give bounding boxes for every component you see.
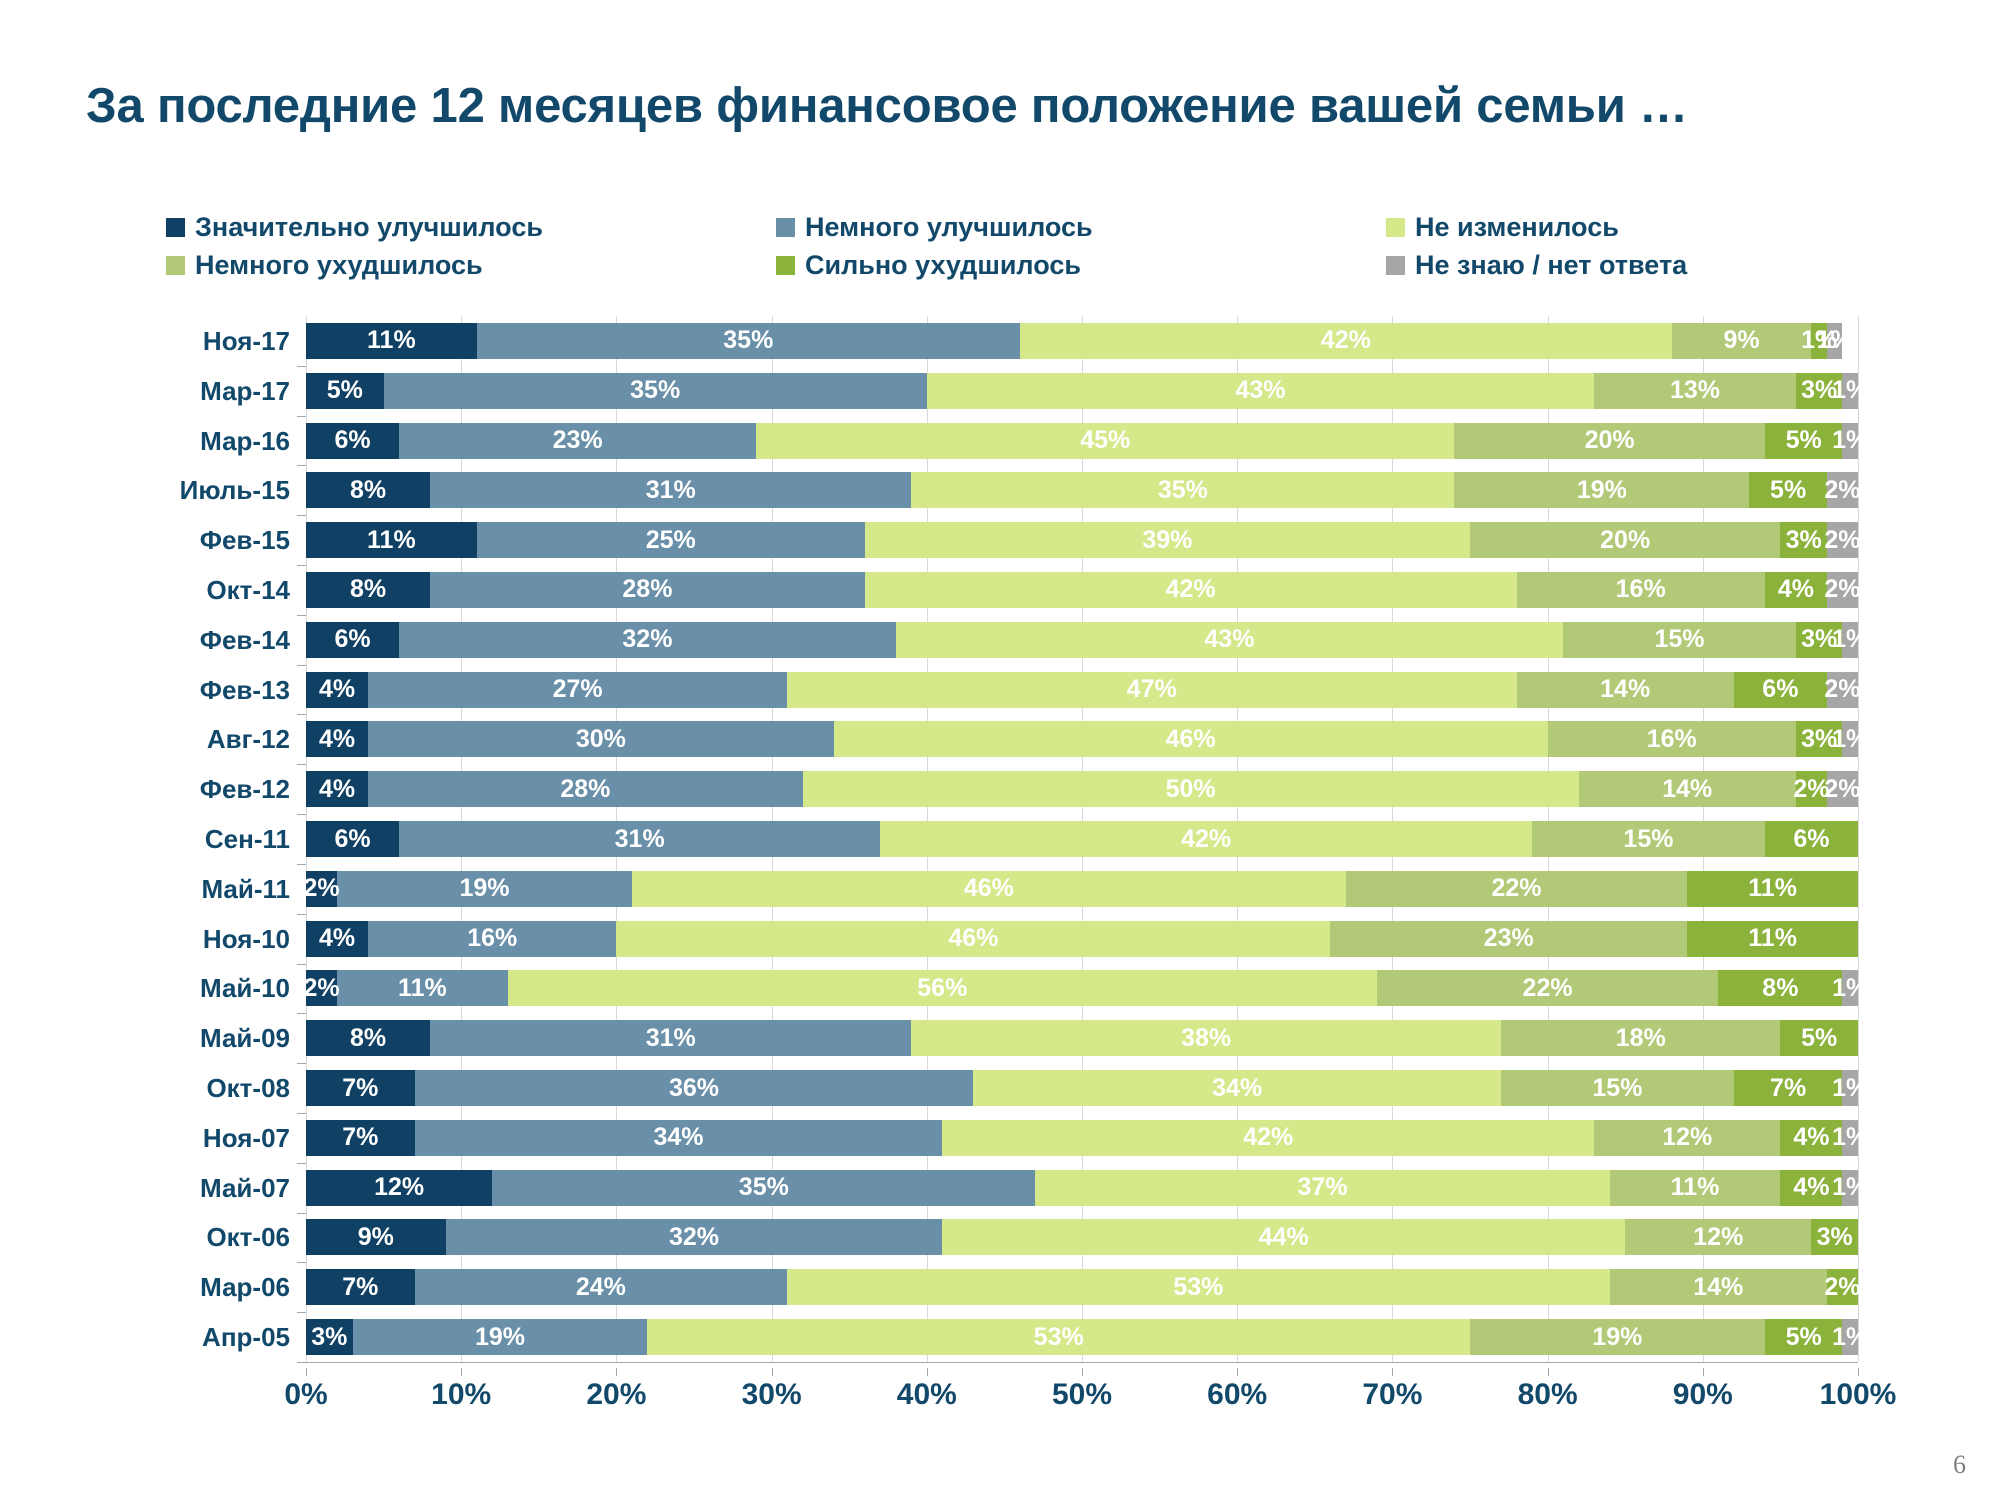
bar-segment[interactable]: 11% bbox=[1687, 921, 1858, 957]
bar-segment-value: 28% bbox=[560, 777, 610, 802]
bar-segment[interactable]: 43% bbox=[896, 622, 1563, 658]
bar-segment[interactable]: 22% bbox=[1377, 970, 1718, 1006]
bar-segment[interactable]: 35% bbox=[911, 472, 1454, 508]
category-tick bbox=[297, 515, 306, 516]
bar-segment[interactable]: 45% bbox=[756, 423, 1454, 459]
bar-segment[interactable]: 2% bbox=[1827, 472, 1858, 508]
bar-segment[interactable]: 4% bbox=[1765, 572, 1827, 608]
bar-segment-value: 5% bbox=[1801, 1026, 1837, 1051]
bar-segment[interactable]: 1% bbox=[1842, 1070, 1858, 1106]
bar-segment-value: 35% bbox=[723, 328, 773, 353]
legend-label: Немного улучшилось bbox=[805, 214, 1093, 241]
bar-segment-value: 1% bbox=[1832, 1325, 1868, 1350]
bar-segment-value: 6% bbox=[334, 627, 370, 652]
bar-segment-value: 50% bbox=[1166, 777, 1216, 802]
bar-segment-value: 1% bbox=[1832, 428, 1868, 453]
x-axis-tick bbox=[616, 1368, 617, 1376]
bar-row-Сен-11[interactable]: 6%31%42%15%6% bbox=[306, 821, 1858, 857]
legend-item-unchanged[interactable]: Не изменилось bbox=[1386, 214, 1846, 241]
category-tick bbox=[297, 1312, 306, 1313]
bar-segment[interactable]: 8% bbox=[306, 572, 430, 608]
bar-segment[interactable]: 12% bbox=[1625, 1219, 1811, 1255]
category-label-Мар-17: Мар-17 bbox=[200, 378, 290, 404]
bar-segment[interactable]: 30% bbox=[368, 721, 834, 757]
bar-segment-value: 15% bbox=[1623, 827, 1673, 852]
bar-segment-value: 12% bbox=[1693, 1225, 1743, 1250]
bar-segment[interactable]: 35% bbox=[492, 1170, 1035, 1206]
bar-segment-value: 20% bbox=[1585, 428, 1635, 453]
bar-segment[interactable]: 44% bbox=[942, 1219, 1625, 1255]
bar-segment-value: 11% bbox=[367, 328, 416, 353]
bar-segment[interactable]: 15% bbox=[1501, 1070, 1734, 1106]
bar-segment[interactable]: 32% bbox=[399, 622, 896, 658]
bar-segment[interactable]: 42% bbox=[1020, 323, 1672, 359]
bar-segment[interactable]: 56% bbox=[508, 970, 1377, 1006]
bar-segment[interactable]: 9% bbox=[306, 1219, 446, 1255]
x-axis-tick bbox=[1703, 1368, 1704, 1376]
bar-row-Июль-15[interactable]: 8%31%35%19%5%2% bbox=[306, 472, 1858, 508]
bar-segment-value: 12% bbox=[1662, 1125, 1712, 1150]
category-tick bbox=[297, 565, 306, 566]
bar-segment-value: 20% bbox=[1600, 528, 1650, 553]
bar-segment[interactable]: 18% bbox=[1501, 1020, 1780, 1056]
bar-segment-value: 2% bbox=[1824, 1275, 1860, 1300]
bar-segment-value: 4% bbox=[319, 926, 355, 951]
bar-segment[interactable]: 1% bbox=[1842, 373, 1858, 409]
bar-row-Фев-12[interactable]: 4%28%50%14%2%2% bbox=[306, 771, 1858, 807]
bar-segment[interactable]: 6% bbox=[306, 821, 399, 857]
bar-segment-value: 16% bbox=[1647, 727, 1697, 752]
category-tick bbox=[297, 615, 306, 616]
bar-segment[interactable]: 46% bbox=[616, 921, 1330, 957]
legend-item-dont_know[interactable]: Не знаю / нет ответа bbox=[1386, 252, 1846, 279]
bar-segment[interactable]: 23% bbox=[399, 423, 756, 459]
bar-segment[interactable]: 19% bbox=[337, 871, 632, 907]
bar-segment[interactable]: 35% bbox=[477, 323, 1020, 359]
bar-segment-value: 35% bbox=[739, 1175, 789, 1200]
bar-segment[interactable]: 3% bbox=[1780, 522, 1827, 558]
legend-item-slightly_worse[interactable]: Немного ухудшилось bbox=[166, 252, 776, 279]
bar-segment-value: 19% bbox=[459, 876, 509, 901]
bar-segment-value: 31% bbox=[615, 827, 665, 852]
bar-segment[interactable]: 1% bbox=[1842, 721, 1858, 757]
bar-segment-value: 4% bbox=[319, 677, 355, 702]
category-label-Июль-15: Июль-15 bbox=[180, 477, 290, 503]
bar-segment-value: 7% bbox=[342, 1125, 378, 1150]
bar-segment-value: 7% bbox=[342, 1275, 378, 1300]
bar-segment-value: 9% bbox=[358, 1225, 394, 1250]
category-label-Май-07: Май-07 bbox=[200, 1175, 290, 1201]
x-axis-tick-label: 40% bbox=[897, 1380, 957, 1410]
bar-segment[interactable]: 24% bbox=[415, 1269, 787, 1305]
category-label-Ноя-17: Ноя-17 bbox=[203, 328, 290, 354]
bar-segment[interactable]: 46% bbox=[632, 871, 1346, 907]
bar-segment-value: 19% bbox=[1592, 1325, 1642, 1350]
bar-segment[interactable]: 2% bbox=[306, 970, 337, 1006]
bar-segment[interactable]: 5% bbox=[1765, 1319, 1843, 1355]
bar-segment[interactable]: 19% bbox=[353, 1319, 648, 1355]
category-tick bbox=[297, 465, 306, 466]
bar-segment-value: 9% bbox=[1724, 328, 1760, 353]
x-axis-tick-label: 0% bbox=[284, 1380, 327, 1410]
bar-segment-value: 32% bbox=[669, 1225, 719, 1250]
category-label-Май-09: Май-09 bbox=[200, 1025, 290, 1051]
bar-segment[interactable]: 20% bbox=[1454, 423, 1764, 459]
bar-segment[interactable]: 6% bbox=[306, 622, 399, 658]
bar-segment[interactable]: 28% bbox=[430, 572, 865, 608]
bar-segment-value: 19% bbox=[475, 1325, 525, 1350]
bar-segment-value: 11% bbox=[367, 528, 416, 553]
bar-segment[interactable]: 27% bbox=[368, 672, 787, 708]
bar-segment-value: 45% bbox=[1080, 428, 1130, 453]
bar-segment-value: 1% bbox=[1832, 1076, 1868, 1101]
bar-segment[interactable]: 2% bbox=[1827, 522, 1858, 558]
bar-segment-value: 19% bbox=[1577, 478, 1627, 503]
bar-segment-value: 2% bbox=[1824, 528, 1860, 553]
bar-segment[interactable]: 16% bbox=[1517, 572, 1765, 608]
x-axis-tick bbox=[1858, 1368, 1859, 1376]
bar-segment[interactable]: 34% bbox=[973, 1070, 1501, 1106]
bar-segment[interactable]: 50% bbox=[803, 771, 1579, 807]
category-tick bbox=[297, 1113, 306, 1114]
bar-segment[interactable]: 42% bbox=[880, 821, 1532, 857]
bar-segment[interactable]: 46% bbox=[834, 721, 1548, 757]
bar-segment-value: 31% bbox=[646, 478, 696, 503]
bar-row-Фев-13[interactable]: 4%27%47%14%6%2% bbox=[306, 672, 1858, 708]
bar-segment[interactable]: 11% bbox=[1687, 871, 1858, 907]
category-tick bbox=[297, 714, 306, 715]
bar-segment-value: 11% bbox=[1748, 926, 1797, 951]
x-axis-tick-label: 20% bbox=[586, 1380, 646, 1410]
bar-segment-value: 4% bbox=[1793, 1125, 1829, 1150]
bar-row-Ноя-07[interactable]: 7%34%42%12%4%1% bbox=[306, 1120, 1858, 1156]
category-label-Мар-16: Мар-16 bbox=[200, 428, 290, 454]
bar-segment-value: 42% bbox=[1321, 328, 1371, 353]
bar-row-Май-10[interactable]: 2%11%56%22%8%1% bbox=[306, 970, 1858, 1006]
bar-segment[interactable]: 31% bbox=[430, 472, 911, 508]
bar-segment-value: 35% bbox=[1158, 478, 1208, 503]
bar-segment-value: 13% bbox=[1670, 378, 1720, 403]
bar-segment[interactable]: 5% bbox=[1749, 472, 1827, 508]
bar-segment-value: 42% bbox=[1181, 827, 1231, 852]
bar-segment[interactable]: 1% bbox=[1842, 423, 1858, 459]
bar-segment[interactable]: 42% bbox=[865, 572, 1517, 608]
bar-row-Окт-08[interactable]: 7%36%34%15%7%1% bbox=[306, 1070, 1858, 1106]
bar-segment-value: 15% bbox=[1654, 627, 1704, 652]
bar-segment-value: 2% bbox=[303, 876, 339, 901]
bar-segment[interactable]: 2% bbox=[1827, 572, 1858, 608]
bar-segment-value: 7% bbox=[342, 1076, 378, 1101]
legend-label: Не изменилось bbox=[1415, 214, 1619, 241]
slide-canvas: За последние 12 месяцев финансовое полож… bbox=[0, 0, 2000, 1500]
bar-segment[interactable]: 16% bbox=[368, 921, 616, 957]
bar-segment-value: 14% bbox=[1662, 777, 1712, 802]
bar-segment[interactable]: 15% bbox=[1532, 821, 1765, 857]
bar-segment[interactable]: 1% bbox=[1842, 622, 1858, 658]
bar-segment-value: 27% bbox=[553, 677, 603, 702]
bar-row-Ноя-17[interactable]: 11%35%42%9%1%1% bbox=[306, 323, 1858, 359]
bar-segment-value: 53% bbox=[1034, 1325, 1084, 1350]
bar-segment[interactable]: 19% bbox=[1454, 472, 1749, 508]
category-label-Окт-14: Окт-14 bbox=[206, 577, 290, 603]
bar-segment[interactable]: 1% bbox=[1827, 323, 1843, 359]
bar-row-Мар-17[interactable]: 5%35%43%13%3%1% bbox=[306, 373, 1858, 409]
bar-segment-value: 44% bbox=[1259, 1225, 1309, 1250]
bar-segment[interactable]: 3% bbox=[306, 1319, 353, 1355]
bar-segment-value: 1% bbox=[1832, 627, 1868, 652]
category-tick bbox=[297, 416, 306, 417]
bar-segment[interactable]: 12% bbox=[306, 1170, 492, 1206]
bar-segment-value: 5% bbox=[327, 378, 363, 403]
category-tick bbox=[297, 1063, 306, 1064]
bar-segment[interactable]: 42% bbox=[942, 1120, 1594, 1156]
bar-segment-value: 5% bbox=[1786, 428, 1822, 453]
bar-segment-value: 6% bbox=[1793, 827, 1829, 852]
bar-segment-value: 11% bbox=[1671, 1175, 1720, 1200]
bar-row-Окт-06[interactable]: 9%32%44%12%3% bbox=[306, 1219, 1858, 1255]
bar-segment[interactable]: 16% bbox=[1548, 721, 1796, 757]
bar-segment[interactable]: 25% bbox=[477, 522, 865, 558]
bar-segment-value: 46% bbox=[964, 876, 1014, 901]
bar-segment-value: 14% bbox=[1693, 1275, 1743, 1300]
bar-segment-value: 2% bbox=[1824, 577, 1860, 602]
legend-item-slightly_better[interactable]: Немного улучшилось bbox=[776, 214, 1386, 241]
bar-segment-value: 4% bbox=[1778, 577, 1814, 602]
bar-row-Авг-12[interactable]: 4%30%46%16%3%1% bbox=[306, 721, 1858, 757]
bar-segment-value: 25% bbox=[646, 528, 696, 553]
category-label-Май-10: Май-10 bbox=[200, 975, 290, 1001]
legend-swatch-icon-dont_know bbox=[1386, 256, 1405, 275]
category-label-Май-11: Май-11 bbox=[201, 876, 290, 902]
x-axis-tick bbox=[1548, 1368, 1549, 1376]
bar-segment[interactable]: 22% bbox=[1346, 871, 1687, 907]
x-axis-tick bbox=[927, 1368, 928, 1376]
bar-segment-value: 5% bbox=[1786, 1325, 1822, 1350]
category-tick bbox=[297, 366, 306, 367]
x-axis-tick-label: 90% bbox=[1673, 1380, 1733, 1410]
bar-segment-value: 39% bbox=[1142, 528, 1192, 553]
bar-segment-value: 46% bbox=[1166, 727, 1216, 752]
bar-segment[interactable]: 1% bbox=[1842, 1319, 1858, 1355]
bar-segment-value: 1% bbox=[1832, 727, 1868, 752]
bar-segment[interactable]: 13% bbox=[1594, 373, 1796, 409]
bar-segment-value: 8% bbox=[350, 478, 386, 503]
bar-segment[interactable]: 4% bbox=[306, 721, 368, 757]
x-axis-tick bbox=[461, 1368, 462, 1376]
bar-segment-value: 12% bbox=[374, 1175, 424, 1200]
bar-segment[interactable]: 31% bbox=[430, 1020, 911, 1056]
bar-segment[interactable]: 1% bbox=[1842, 970, 1858, 1006]
bar-segment[interactable]: 36% bbox=[415, 1070, 974, 1106]
legend-label: Сильно ухудшилось bbox=[805, 252, 1081, 279]
bar-segment[interactable]: 12% bbox=[1594, 1120, 1780, 1156]
bar-segment[interactable]: 39% bbox=[865, 522, 1470, 558]
category-label-Ноя-10: Ноя-10 bbox=[203, 926, 290, 952]
gridline bbox=[1858, 316, 1859, 1362]
x-axis-tick-label: 100% bbox=[1820, 1380, 1897, 1410]
bar-segment-value: 30% bbox=[576, 727, 626, 752]
bar-row-Ноя-10[interactable]: 4%16%46%23%11% bbox=[306, 921, 1858, 957]
bar-segment[interactable]: 19% bbox=[1470, 1319, 1765, 1355]
bar-segment-value: 23% bbox=[1484, 926, 1534, 951]
bar-segment-value: 11% bbox=[1748, 876, 1797, 901]
legend-swatch-icon-slightly_better bbox=[776, 218, 795, 237]
category-label-Фев-15: Фев-15 bbox=[200, 527, 290, 553]
x-axis-tick-label: 60% bbox=[1207, 1380, 1267, 1410]
bar-segment-value: 24% bbox=[576, 1275, 626, 1300]
bar-segment[interactable]: 8% bbox=[306, 1020, 430, 1056]
bar-segment[interactable]: 4% bbox=[306, 921, 368, 957]
bar-segment-value: 2% bbox=[1824, 777, 1860, 802]
bar-segment-value: 1% bbox=[1832, 976, 1868, 1001]
bar-segment[interactable]: 31% bbox=[399, 821, 880, 857]
bar-segment[interactable]: 47% bbox=[787, 672, 1516, 708]
bar-segment[interactable]: 37% bbox=[1035, 1170, 1609, 1206]
bar-row-Май-11[interactable]: 2%19%46%22%11% bbox=[306, 871, 1858, 907]
bar-row-Апр-05[interactable]: 3%19%53%19%5%1% bbox=[306, 1319, 1858, 1355]
bar-segment[interactable]: 35% bbox=[384, 373, 927, 409]
chart-plot-area: Ноя-17Мар-17Мар-16Июль-15Фев-15Окт-14Фев… bbox=[170, 316, 1858, 1362]
legend-item-much_worse[interactable]: Сильно ухудшилось bbox=[776, 252, 1386, 279]
bar-segment[interactable]: 7% bbox=[1734, 1070, 1843, 1106]
bar-segment-value: 34% bbox=[1212, 1076, 1262, 1101]
bar-segment[interactable]: 20% bbox=[1470, 522, 1780, 558]
category-tick bbox=[297, 1013, 306, 1014]
x-axis-tick bbox=[772, 1368, 773, 1376]
x-axis-tick bbox=[306, 1368, 307, 1376]
bar-segment[interactable]: 2% bbox=[1827, 1269, 1858, 1305]
bar-segment[interactable]: 7% bbox=[306, 1070, 415, 1106]
bar-segment[interactable]: 8% bbox=[306, 472, 430, 508]
bar-segment-value: 1% bbox=[1832, 1175, 1868, 1200]
bar-segment[interactable]: 3% bbox=[1811, 1219, 1858, 1255]
bar-segment-value: 36% bbox=[669, 1076, 719, 1101]
bar-segment[interactable]: 4% bbox=[306, 771, 368, 807]
bar-segment-value: 2% bbox=[303, 976, 339, 1001]
bar-segment[interactable]: 53% bbox=[787, 1269, 1610, 1305]
bar-segment[interactable]: 28% bbox=[368, 771, 803, 807]
bar-segment[interactable]: 53% bbox=[647, 1319, 1470, 1355]
category-tick bbox=[297, 1262, 306, 1263]
bar-segment-value: 6% bbox=[1762, 677, 1798, 702]
bar-segment[interactable]: 4% bbox=[306, 672, 368, 708]
bar-segment-value: 6% bbox=[334, 428, 370, 453]
bar-row-Мар-16[interactable]: 6%23%45%20%5%1% bbox=[306, 423, 1858, 459]
category-tick bbox=[297, 1163, 306, 1164]
legend-swatch-icon-much_better bbox=[166, 218, 185, 237]
bar-segment-value: 2% bbox=[1824, 677, 1860, 702]
bar-row-Фев-14[interactable]: 6%32%43%15%3%1% bbox=[306, 622, 1858, 658]
bar-segment[interactable]: 2% bbox=[1827, 672, 1858, 708]
bar-segment[interactable]: 5% bbox=[1780, 1020, 1858, 1056]
category-label-Мар-06: Мар-06 bbox=[200, 1274, 290, 1300]
bar-row-Мар-06[interactable]: 7%24%53%14%2% bbox=[306, 1269, 1858, 1305]
category-label-Ноя-07: Ноя-07 bbox=[203, 1125, 290, 1151]
legend-item-much_better[interactable]: Значительно улучшилось bbox=[166, 214, 776, 241]
bar-segment-value: 2% bbox=[1824, 478, 1860, 503]
bar-segment[interactable]: 6% bbox=[1765, 821, 1858, 857]
bar-row-Май-07[interactable]: 12%35%37%11%4%1% bbox=[306, 1170, 1858, 1206]
category-label-Авг-12: Авг-12 bbox=[207, 726, 290, 752]
bar-segment[interactable]: 32% bbox=[446, 1219, 943, 1255]
bar-segment-value: 23% bbox=[553, 428, 603, 453]
bar-segment[interactable]: 11% bbox=[306, 522, 477, 558]
category-tick bbox=[297, 964, 306, 965]
bar-segment[interactable]: 11% bbox=[306, 323, 477, 359]
bar-segment[interactable]: 5% bbox=[1765, 423, 1843, 459]
bar-segment-value: 3% bbox=[311, 1325, 347, 1350]
bar-segment[interactable]: 34% bbox=[415, 1120, 943, 1156]
stacked-bars-container: 11%35%42%9%1%1%5%35%43%13%3%1%6%23%45%20… bbox=[306, 316, 1858, 1362]
bar-segment[interactable]: 7% bbox=[306, 1269, 415, 1305]
bar-segment-value: 22% bbox=[1523, 976, 1573, 1001]
bar-segment-value: 6% bbox=[334, 827, 370, 852]
bar-segment[interactable]: 14% bbox=[1517, 672, 1734, 708]
category-tick bbox=[297, 864, 306, 865]
bar-segment-value: 16% bbox=[467, 926, 517, 951]
bar-segment[interactable]: 23% bbox=[1330, 921, 1687, 957]
bar-segment[interactable]: 5% bbox=[306, 373, 384, 409]
bar-segment[interactable]: 9% bbox=[1672, 323, 1812, 359]
x-axis: 0%10%20%30%40%50%60%70%80%90%100% bbox=[306, 1368, 1858, 1422]
x-axis-tick-label: 80% bbox=[1518, 1380, 1578, 1410]
category-label-Апр-05: Апр-05 bbox=[202, 1324, 290, 1350]
bar-segment[interactable]: 2% bbox=[306, 871, 337, 907]
bar-segment[interactable]: 11% bbox=[337, 970, 508, 1006]
bar-segment-value: 7% bbox=[1770, 1076, 1806, 1101]
bar-segment[interactable]: 1% bbox=[1842, 1120, 1858, 1156]
bar-segment-value: 14% bbox=[1600, 677, 1650, 702]
bar-segment-value: 43% bbox=[1204, 627, 1254, 652]
bar-segment[interactable]: 43% bbox=[927, 373, 1594, 409]
bar-segment[interactable]: 11% bbox=[1610, 1170, 1781, 1206]
page-number: 6 bbox=[1953, 1450, 1966, 1480]
x-axis-tick-label: 50% bbox=[1052, 1380, 1112, 1410]
bar-segment-value: 42% bbox=[1166, 577, 1216, 602]
bar-segment-value: 4% bbox=[319, 777, 355, 802]
bar-segment[interactable]: 14% bbox=[1579, 771, 1796, 807]
bar-row-Май-09[interactable]: 8%31%38%18%5% bbox=[306, 1020, 1858, 1056]
bar-segment-value: 28% bbox=[622, 577, 672, 602]
bar-segment[interactable]: 2% bbox=[1827, 771, 1858, 807]
bar-segment[interactable]: 15% bbox=[1563, 622, 1796, 658]
bar-segment[interactable]: 6% bbox=[306, 423, 399, 459]
bar-segment-value: 31% bbox=[646, 1026, 696, 1051]
bar-segment-value: 3% bbox=[1817, 1225, 1853, 1250]
x-axis-tick bbox=[1392, 1368, 1393, 1376]
bar-row-Окт-14[interactable]: 8%28%42%16%4%2% bbox=[306, 572, 1858, 608]
bar-segment[interactable]: 1% bbox=[1842, 1170, 1858, 1206]
bar-segment-value: 15% bbox=[1592, 1076, 1642, 1101]
bar-segment[interactable]: 6% bbox=[1734, 672, 1827, 708]
bar-segment-value: 1% bbox=[1832, 1125, 1868, 1150]
legend-label: Немного ухудшилось bbox=[195, 252, 483, 279]
bar-segment-value: 8% bbox=[1762, 976, 1798, 1001]
bar-segment-value: 34% bbox=[653, 1125, 703, 1150]
bar-segment[interactable]: 38% bbox=[911, 1020, 1501, 1056]
category-tick bbox=[297, 665, 306, 666]
x-axis-line bbox=[306, 1362, 1858, 1363]
bar-segment-value: 4% bbox=[319, 727, 355, 752]
category-label-Фев-12: Фев-12 bbox=[200, 776, 290, 802]
bar-row-Фев-15[interactable]: 11%25%39%20%3%2% bbox=[306, 522, 1858, 558]
bar-segment[interactable]: 14% bbox=[1610, 1269, 1827, 1305]
bar-segment[interactable]: 7% bbox=[306, 1120, 415, 1156]
bar-segment[interactable]: 8% bbox=[1718, 970, 1842, 1006]
category-tick bbox=[297, 814, 306, 815]
legend-swatch-icon-unchanged bbox=[1386, 218, 1405, 237]
bar-segment[interactable]: 2% bbox=[1796, 771, 1827, 807]
